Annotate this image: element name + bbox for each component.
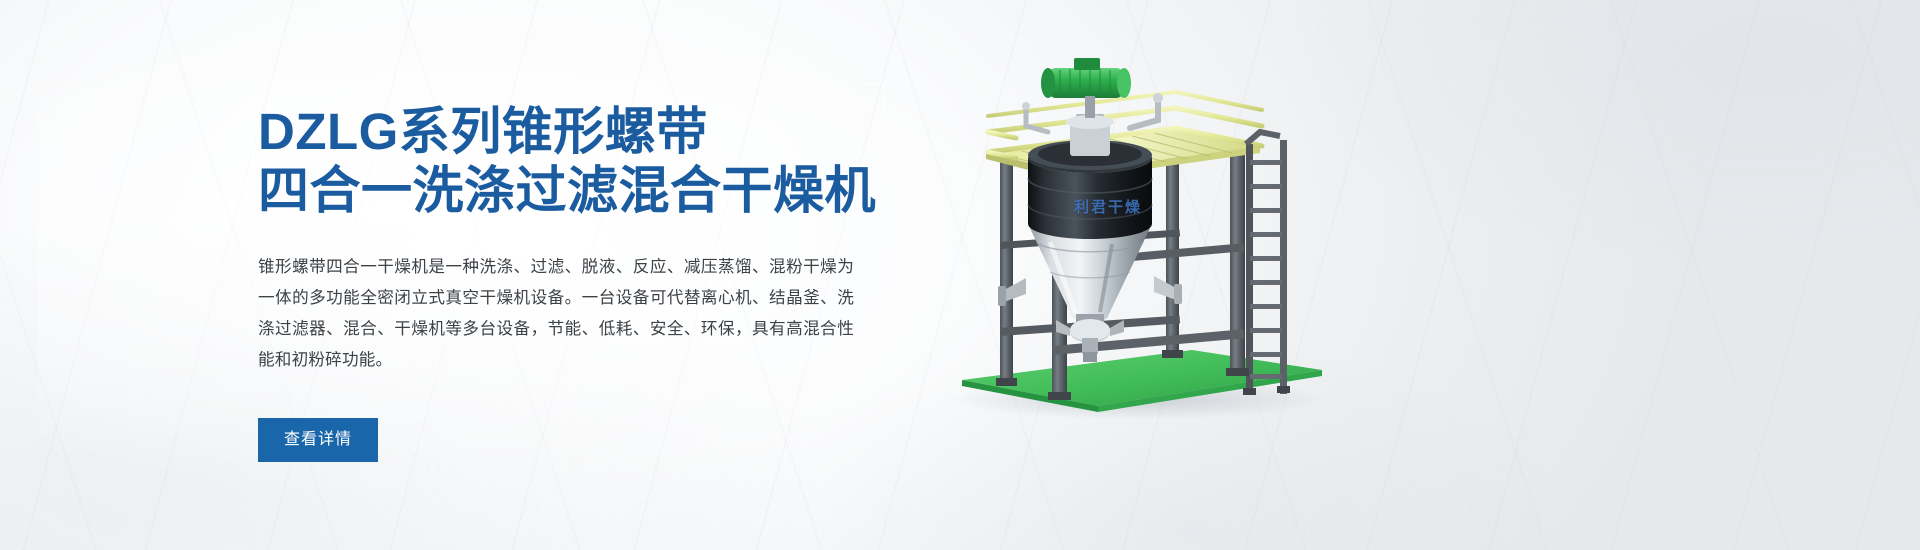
title-frame: DZLG系列锥形螺带 四合一洗涤过滤混合干燥机 xyxy=(258,84,878,226)
frame-line-right xyxy=(883,84,884,118)
banner-title-line-2: 四合一洗涤过滤混合干燥机 xyxy=(258,161,878,220)
equipment-render xyxy=(930,28,1360,428)
frame-line-top-left xyxy=(252,84,670,85)
view-details-button[interactable]: 查看详情 xyxy=(258,418,378,462)
banner-title-line-1: DZLG系列锥形螺带 xyxy=(258,102,878,161)
frame-line-top-right xyxy=(662,84,884,85)
banner-copy: DZLG系列锥形螺带 四合一洗涤过滤混合干燥机 锥形螺带四合一干燥机是一种洗涤、… xyxy=(258,84,878,462)
banner-description: 锥形螺带四合一干燥机是一种洗涤、过滤、脱液、反应、减压蒸馏、混粉干燥为一体的多功… xyxy=(258,252,854,375)
hero-banner: DZLG系列锥形螺带 四合一洗涤过滤混合干燥机 锥形螺带四合一干燥机是一种洗涤、… xyxy=(0,0,1920,550)
banner-title: DZLG系列锥形螺带 四合一洗涤过滤混合干燥机 xyxy=(258,102,878,220)
frame-line-left xyxy=(252,84,253,206)
access-ladder xyxy=(1246,132,1287,394)
